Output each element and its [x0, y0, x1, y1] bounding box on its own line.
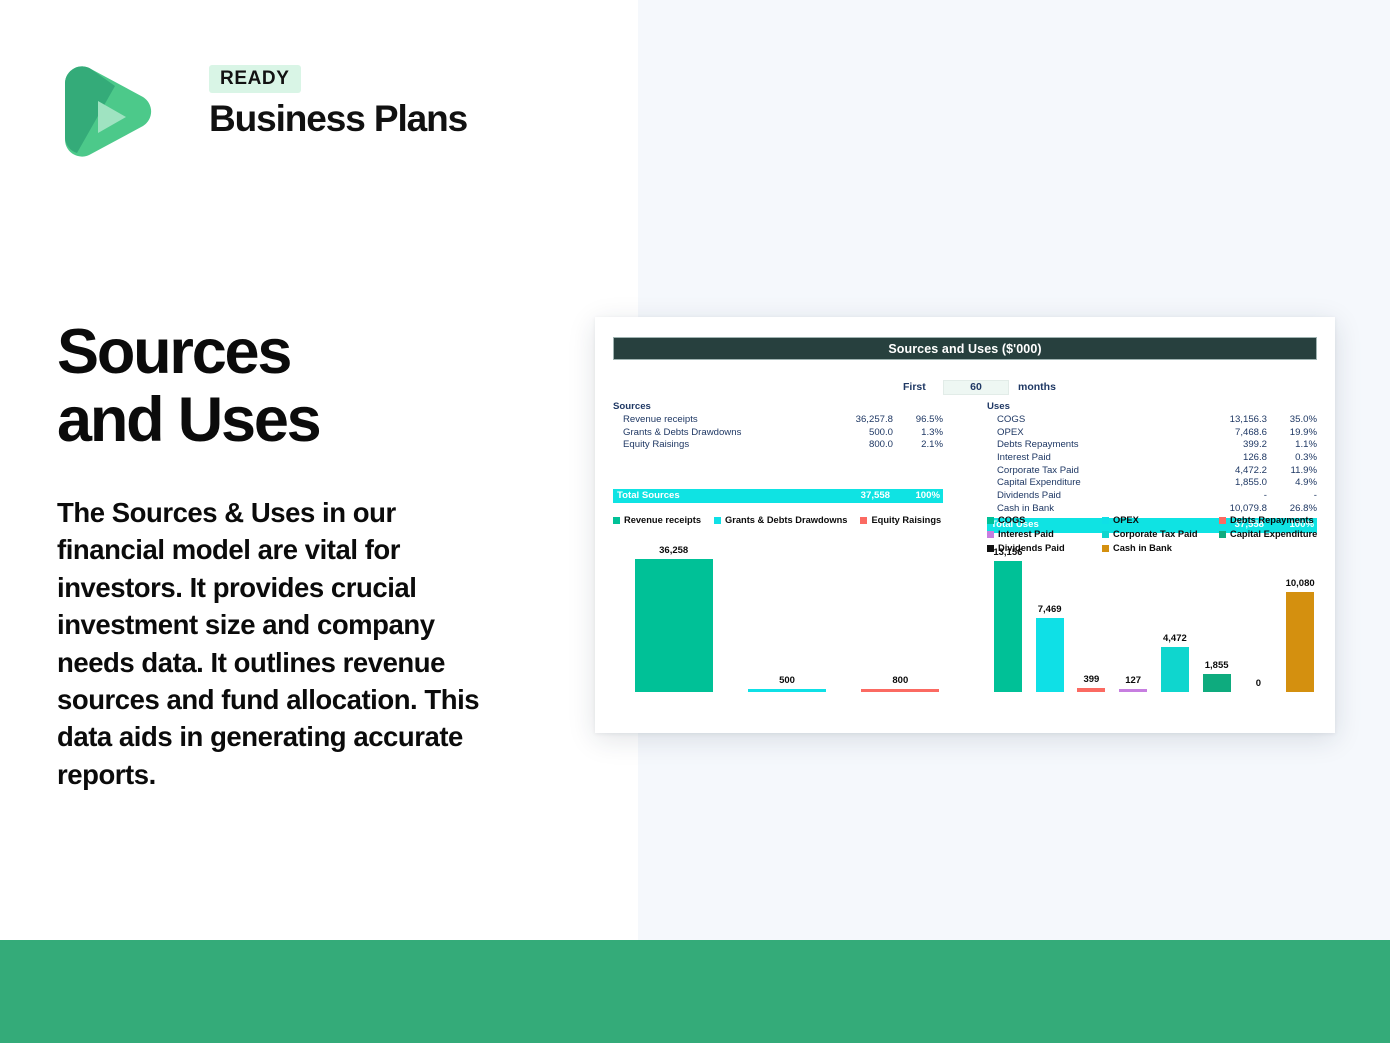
- play-triangle-logo-icon: [57, 57, 152, 157]
- legend-item: Corporate Tax Paid: [1102, 529, 1219, 539]
- bar-value-label: 13,156: [993, 547, 1022, 558]
- legend-label: Revenue receipts: [624, 515, 701, 525]
- legend-swatch-icon: [613, 517, 620, 524]
- table-row: Revenue receipts 36,257.8 96.5%: [613, 414, 943, 427]
- brand-logo: READY Business Plans: [57, 57, 457, 162]
- sources-total-row: Total Sources 37,558 100%: [613, 489, 943, 503]
- legend-swatch-icon: [714, 517, 721, 524]
- row-label: Dividends Paid: [987, 490, 1189, 503]
- table-row: OPEX 7,468.6 19.9%: [987, 427, 1317, 440]
- ready-badge: READY: [209, 65, 301, 93]
- row-percent: 1.1%: [1267, 439, 1317, 452]
- row-percent: 4.9%: [1267, 477, 1317, 490]
- legend-label: Equity Raisings: [871, 515, 941, 525]
- row-amount: 10,079.8: [1189, 503, 1267, 516]
- chart-bar: [1036, 618, 1064, 692]
- chart-bar-group: 800: [861, 545, 939, 692]
- bar-value-label: 1,855: [1205, 660, 1229, 671]
- legend-swatch-icon: [1102, 517, 1109, 524]
- chart-bar: [748, 689, 826, 692]
- uses-table: Uses COGS 13,156.3 35.0% OPEX 7,468.6 19…: [987, 401, 1317, 533]
- months-input[interactable]: 60: [943, 380, 1009, 395]
- legend-label: OPEX: [1113, 515, 1139, 525]
- page-description: The Sources & Uses in our financial mode…: [57, 494, 507, 793]
- row-label: Cash in Bank: [987, 503, 1189, 516]
- row-amount: 500.0: [815, 427, 893, 440]
- row-percent: 11.9%: [1267, 465, 1317, 478]
- spreadsheet-card: Sources and Uses ($'000) First 60 months…: [595, 317, 1335, 733]
- uses-bar-chart: 13,1567,4693991274,4721,855010,080: [987, 545, 1321, 710]
- legend-label: Interest Paid: [998, 529, 1054, 539]
- uses-heading: Uses: [987, 401, 1317, 414]
- brand-wordmark: READY Business Plans: [209, 65, 467, 138]
- row-percent: 26.8%: [1267, 503, 1317, 516]
- row-label: COGS: [987, 414, 1189, 427]
- legend-swatch-icon: [1219, 517, 1226, 524]
- row-amount: 7,468.6: [1189, 427, 1267, 440]
- row-label: Grants & Debts Drawdowns: [613, 427, 815, 440]
- table-row: Dividends Paid - -: [987, 490, 1317, 503]
- bar-value-label: 399: [1083, 674, 1099, 685]
- legend-item: Grants & Debts Drawdowns: [714, 515, 847, 525]
- chart-bar-group: 4,472: [1161, 545, 1189, 692]
- uses-plot-area: 13,1567,4693991274,4721,855010,080: [987, 545, 1321, 692]
- bar-value-label: 127: [1125, 675, 1141, 686]
- chart-bar: [861, 689, 939, 692]
- chart-bar-group: 7,469: [1036, 545, 1064, 692]
- table-row: Capital Expenditure 1,855.0 4.9%: [987, 477, 1317, 490]
- legend-swatch-icon: [860, 517, 867, 524]
- legend-item: Equity Raisings: [860, 515, 941, 525]
- bar-value-label: 0: [1256, 678, 1261, 689]
- chart-bar-group: 0: [1244, 545, 1272, 692]
- chart-bar: [1119, 689, 1147, 692]
- row-label: Interest Paid: [987, 452, 1189, 465]
- row-percent: 1.3%: [893, 427, 943, 440]
- sources-heading: Sources: [613, 401, 943, 414]
- chart-bar: [1077, 688, 1105, 692]
- bar-value-label: 36,258: [659, 545, 688, 556]
- page-title: Sources and Uses: [57, 318, 577, 454]
- sheet-title: Sources and Uses ($'000): [613, 337, 1317, 360]
- legend-swatch-icon: [1102, 531, 1109, 538]
- chart-bar-group: 127: [1119, 545, 1147, 692]
- legend-label: Capital Expenditure: [1230, 529, 1317, 539]
- chart-bar: [1286, 592, 1314, 692]
- row-percent: 96.5%: [893, 414, 943, 427]
- legend-label: Debts Repayments: [1230, 515, 1314, 525]
- row-label: Revenue receipts: [613, 414, 815, 427]
- row-percent: 0.3%: [1267, 452, 1317, 465]
- period-suffix-label: months: [1018, 381, 1056, 393]
- row-amount: 4,472.2: [1189, 465, 1267, 478]
- period-prefix-label: First: [903, 381, 926, 393]
- row-amount: 800.0: [815, 439, 893, 452]
- table-row: Corporate Tax Paid 4,472.2 11.9%: [987, 465, 1317, 478]
- page-title-line-2: and Uses: [57, 386, 577, 454]
- chart-bar: [1161, 647, 1189, 692]
- row-label: Debts Repayments: [987, 439, 1189, 452]
- sources-plot-area: 36,258500800: [617, 545, 957, 692]
- table-row: COGS 13,156.3 35.0%: [987, 414, 1317, 427]
- row-label: Equity Raisings: [613, 439, 815, 452]
- table-row: Debts Repayments 399.2 1.1%: [987, 439, 1317, 452]
- chart-bar: [635, 559, 713, 692]
- legend-label: COGS: [998, 515, 1025, 525]
- sources-bar-chart: 36,258500800: [617, 545, 957, 710]
- row-amount: 126.8: [1189, 452, 1267, 465]
- row-amount: 399.2: [1189, 439, 1267, 452]
- table-spacer: [613, 452, 943, 486]
- page-title-line-1: Sources: [57, 318, 577, 386]
- row-amount: 1,855.0: [1189, 477, 1267, 490]
- legend-item: Capital Expenditure: [1219, 529, 1323, 539]
- legend-swatch-icon: [987, 531, 994, 538]
- legend-item: Interest Paid: [987, 529, 1102, 539]
- period-selector-row: First 60 months: [613, 379, 1317, 395]
- sources-table: Sources Revenue receipts 36,257.8 96.5% …: [613, 401, 943, 503]
- chart-bar: [1203, 674, 1231, 692]
- chart-bar: [994, 561, 1022, 692]
- row-amount: 13,156.3: [1189, 414, 1267, 427]
- chart-bar-group: 500: [748, 545, 826, 692]
- chart-bar-group: 10,080: [1286, 545, 1314, 692]
- bar-value-label: 10,080: [1286, 578, 1315, 589]
- legend-item: COGS: [987, 515, 1102, 525]
- legend-label: Grants & Debts Drawdowns: [725, 515, 847, 525]
- row-label: Corporate Tax Paid: [987, 465, 1189, 478]
- sources-chart-legend: Revenue receiptsGrants & Debts Drawdowns…: [613, 515, 953, 525]
- table-row: Interest Paid 126.8 0.3%: [987, 452, 1317, 465]
- total-amount: 37,558: [812, 489, 890, 503]
- legend-swatch-icon: [987, 517, 994, 524]
- table-row: Grants & Debts Drawdowns 500.0 1.3%: [613, 427, 943, 440]
- chart-bar-group: 13,156: [994, 545, 1022, 692]
- bar-value-label: 500: [779, 675, 795, 686]
- bar-value-label: 4,472: [1163, 633, 1187, 644]
- chart-bar-group: 399: [1077, 545, 1105, 692]
- total-percent: 100%: [890, 489, 943, 503]
- row-percent: 35.0%: [1267, 414, 1317, 427]
- brand-name: Business Plans: [209, 99, 467, 138]
- row-amount: -: [1189, 490, 1267, 503]
- row-percent: 2.1%: [893, 439, 943, 452]
- footer-band: [0, 940, 1390, 1043]
- row-label: OPEX: [987, 427, 1189, 440]
- bar-value-label: 7,469: [1038, 604, 1062, 615]
- legend-item: Debts Repayments: [1219, 515, 1323, 525]
- legend-item: OPEX: [1102, 515, 1219, 525]
- chart-bar-group: 36,258: [635, 545, 713, 692]
- legend-item: Revenue receipts: [613, 515, 701, 525]
- table-row: Equity Raisings 800.0 2.1%: [613, 439, 943, 452]
- row-percent: -: [1267, 490, 1317, 503]
- bar-value-label: 800: [892, 675, 908, 686]
- row-label: Capital Expenditure: [987, 477, 1189, 490]
- total-label: Total Sources: [613, 489, 812, 503]
- row-amount: 36,257.8: [815, 414, 893, 427]
- legend-label: Corporate Tax Paid: [1113, 529, 1198, 539]
- chart-bar-group: 1,855: [1203, 545, 1231, 692]
- table-row: Cash in Bank 10,079.8 26.8%: [987, 503, 1317, 516]
- legend-swatch-icon: [1219, 531, 1226, 538]
- row-percent: 19.9%: [1267, 427, 1317, 440]
